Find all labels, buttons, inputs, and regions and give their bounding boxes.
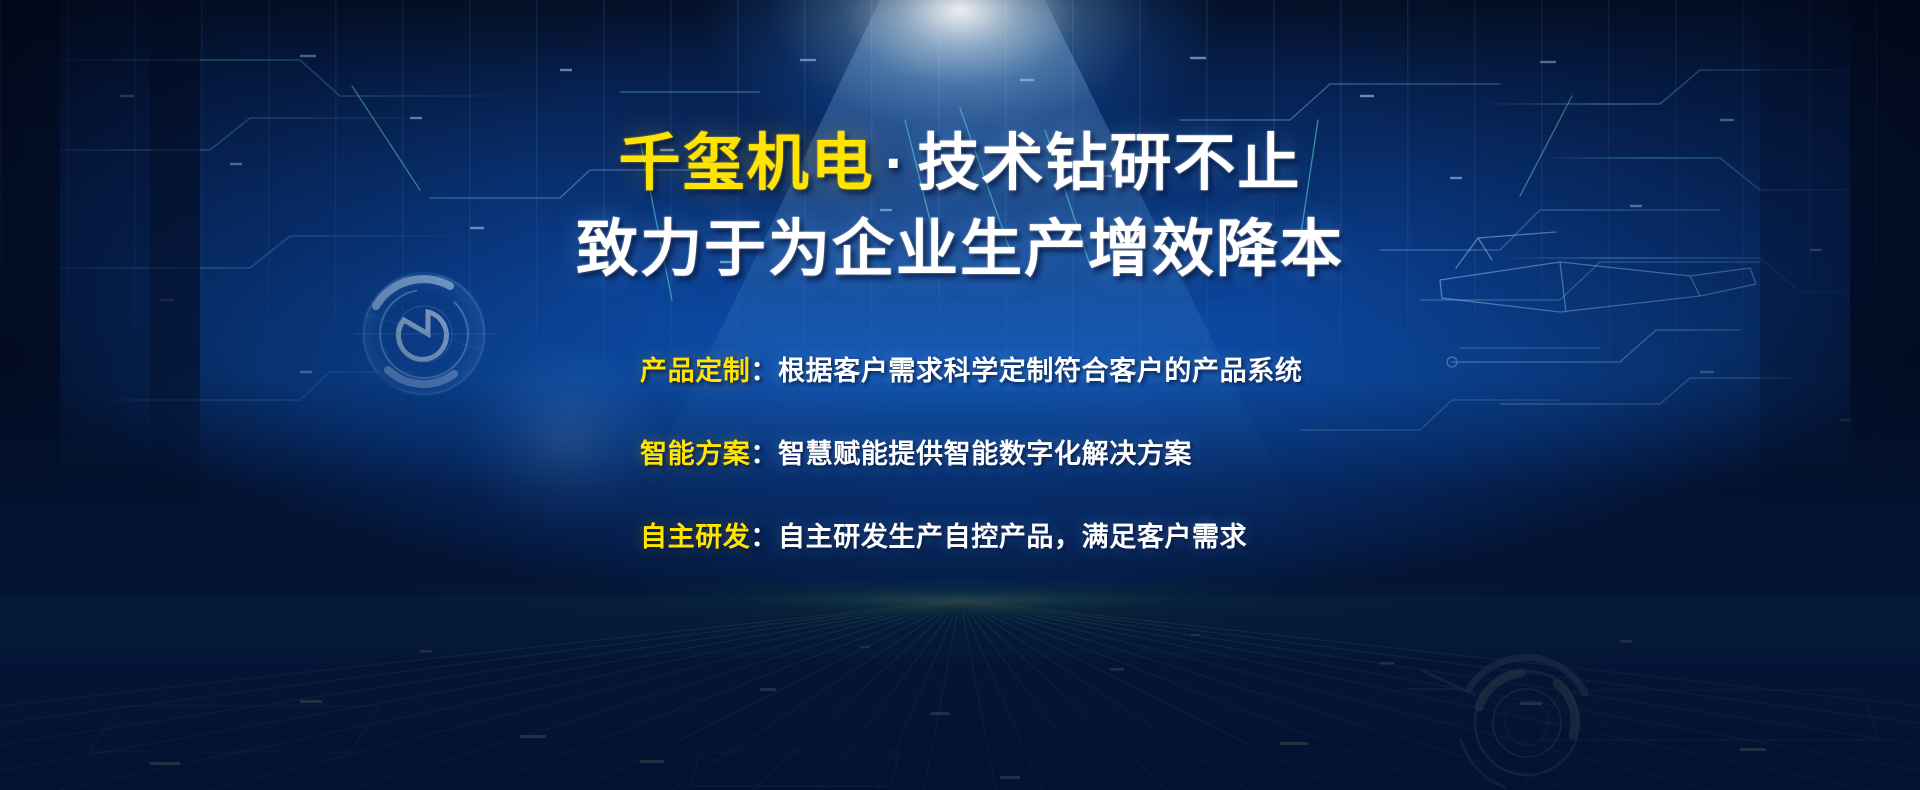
bullet-label: 自主研发 <box>640 522 750 552</box>
bullet-colon: ： <box>750 522 778 552</box>
bullet-colon: ： <box>750 439 778 469</box>
headline-line-2: 致力于为企业生产增效降本 <box>0 214 1920 286</box>
hero-banner: 千玺机电·技术钻研不止 致力于为企业生产增效降本 产品定制：根据客户需求科学定制… <box>0 0 1920 790</box>
headline-separator: · <box>875 129 918 198</box>
headline-tagline: 技术钻研不止 <box>917 129 1301 198</box>
bullet-label: 智能方案 <box>640 439 750 469</box>
feature-bullet-list: 产品定制：根据客户需求科学定制符合客户的产品系统 智能方案：智慧赋能提供智能数字… <box>640 355 1540 553</box>
bullet-description: 智慧赋能提供智能数字化解决方案 <box>778 439 1192 469</box>
feature-bullet-independent-rnd: 自主研发：自主研发生产自控产品，满足客户需求 <box>640 521 1540 553</box>
bullet-colon: ： <box>750 356 778 386</box>
brand-name: 千玺机电 <box>619 129 875 198</box>
bullet-label: 产品定制 <box>640 356 750 386</box>
banner-content: 千玺机电·技术钻研不止 致力于为企业生产增效降本 产品定制：根据客户需求科学定制… <box>0 0 1920 790</box>
feature-bullet-product-customization: 产品定制：根据客户需求科学定制符合客户的产品系统 <box>640 355 1540 387</box>
bullet-description: 根据客户需求科学定制符合客户的产品系统 <box>778 356 1302 386</box>
bullet-description: 自主研发生产自控产品，满足客户需求 <box>778 522 1247 552</box>
feature-bullet-smart-solution: 智能方案：智慧赋能提供智能数字化解决方案 <box>640 438 1540 470</box>
headline-line-1: 千玺机电·技术钻研不止 <box>0 128 1920 200</box>
